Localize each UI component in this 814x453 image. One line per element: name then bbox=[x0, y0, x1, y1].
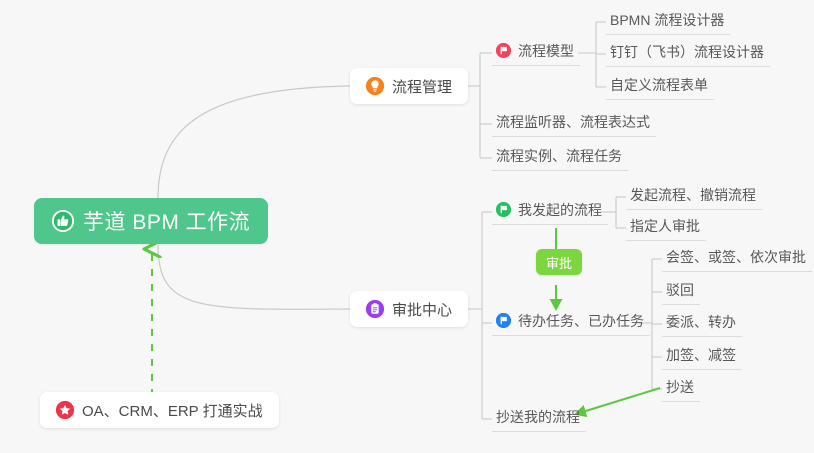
leaf-bpmn-designer[interactable]: BPMN 流程设计器 bbox=[606, 9, 730, 35]
leaf-label: 发起流程、撤销流程 bbox=[630, 185, 756, 205]
node-cc-to-me-processes[interactable]: 抄送我的流程 bbox=[492, 406, 586, 432]
root-label: 芋道 BPM 工作流 bbox=[83, 206, 250, 236]
branch-label: 审批中心 bbox=[392, 299, 452, 320]
node-label: OA、CRM、ERP 打通实战 bbox=[82, 400, 263, 421]
node-todo-done-tasks[interactable]: 待办任务、已办任务 bbox=[492, 310, 650, 336]
leaf-designated-approver[interactable]: 指定人审批 bbox=[626, 215, 706, 241]
flag-icon bbox=[496, 313, 511, 328]
link-root-to-process-management bbox=[158, 86, 350, 198]
flag-icon bbox=[496, 43, 511, 58]
leaf-label: 自定义流程表单 bbox=[610, 75, 708, 95]
branch-process-management[interactable]: 流程管理 bbox=[350, 68, 468, 104]
leaf-reject[interactable]: 驳回 bbox=[662, 279, 700, 305]
leaf-label: 委派、转办 bbox=[666, 312, 736, 332]
node-process-instance-task[interactable]: 流程实例、流程任务 bbox=[492, 145, 628, 171]
leaf-label: BPMN 流程设计器 bbox=[610, 10, 724, 30]
node-my-initiated-processes[interactable]: 我发起的流程 bbox=[492, 199, 608, 225]
node-label: 流程实例、流程任务 bbox=[496, 146, 622, 166]
node-process-listener-expression[interactable]: 流程监听器、流程表达式 bbox=[492, 111, 656, 137]
node-integration-practice[interactable]: OA、CRM、ERP 打通实战 bbox=[40, 392, 279, 428]
root-node[interactable]: 芋道 BPM 工作流 bbox=[34, 198, 268, 244]
leaf-dingtalk-feishu-designer[interactable]: 钉钉（飞书）流程设计器 bbox=[606, 41, 770, 67]
leaf-label: 指定人审批 bbox=[630, 216, 700, 236]
node-label: 流程监听器、流程表达式 bbox=[496, 112, 650, 132]
node-label: 流程模型 bbox=[518, 41, 574, 61]
leaf-label: 加签、减签 bbox=[666, 345, 736, 365]
leaf-label: 抄送 bbox=[666, 377, 694, 397]
clipboard-icon bbox=[366, 300, 384, 318]
leaf-initiate-cancel-process[interactable]: 发起流程、撤销流程 bbox=[626, 184, 762, 210]
leaf-label: 驳回 bbox=[666, 280, 694, 300]
leaf-countersign-orsign-sequential[interactable]: 会签、或签、依次审批 bbox=[662, 246, 812, 272]
node-label: 我发起的流程 bbox=[518, 200, 602, 220]
branch-label: 流程管理 bbox=[392, 76, 452, 97]
star-icon bbox=[56, 401, 74, 419]
leaf-cc[interactable]: 抄送 bbox=[662, 376, 700, 402]
node-label: 抄送我的流程 bbox=[496, 407, 580, 427]
flow-arrow-cc-to-cc-mine bbox=[576, 388, 660, 414]
node-process-model[interactable]: 流程模型 bbox=[492, 40, 580, 66]
leaf-delegate-transfer[interactable]: 委派、转办 bbox=[662, 311, 742, 337]
badge-label: 审批 bbox=[546, 253, 572, 272]
leaf-label: 会签、或签、依次审批 bbox=[666, 247, 806, 267]
node-label: 待办任务、已办任务 bbox=[518, 311, 644, 331]
leaf-label: 钉钉（飞书）流程设计器 bbox=[610, 42, 764, 62]
link-root-to-approval-center bbox=[158, 245, 350, 309]
lightbulb-icon bbox=[366, 77, 384, 95]
badge-approval: 审批 bbox=[536, 249, 582, 275]
branch-approval-center[interactable]: 审批中心 bbox=[350, 291, 468, 327]
mindmap-canvas: 芋道 BPM 工作流 流程管理 流程模型 BPMN 流程设计器 钉钉（飞书 bbox=[0, 0, 814, 453]
leaf-custom-process-form[interactable]: 自定义流程表单 bbox=[606, 74, 714, 100]
flag-icon bbox=[496, 202, 511, 217]
leaf-add-remove-signer[interactable]: 加签、减签 bbox=[662, 344, 742, 370]
thumbs-up-icon bbox=[52, 210, 74, 232]
